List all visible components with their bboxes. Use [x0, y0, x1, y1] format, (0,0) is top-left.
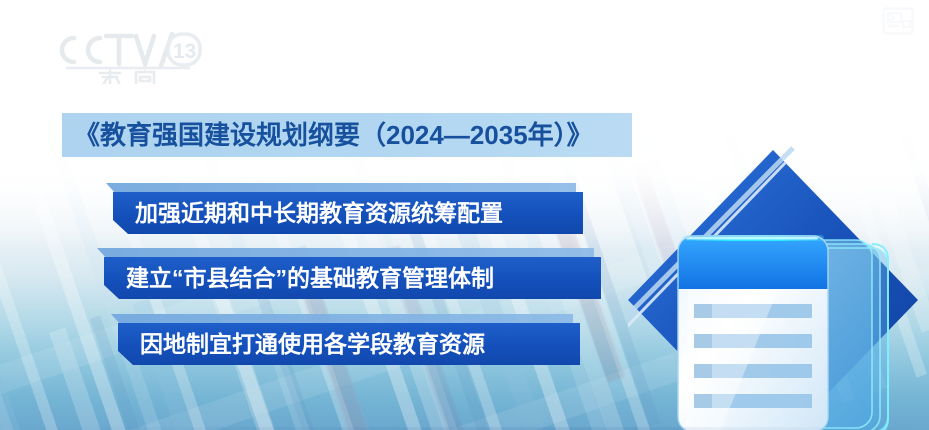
svg-text:13: 13 [173, 40, 196, 63]
bullet-bar-1: 加强近期和中长期教育资源统筹配置 [113, 192, 583, 234]
bullet-bar-2: 建立“市县结合”的基础教育管理体制 [104, 257, 601, 299]
cctv13-news-logo-icon: 13 [48, 22, 208, 84]
headline-band: 《教育强国建设规划纲要（2024—2035年）》 [62, 113, 632, 157]
page-title: 《教育强国建设规划纲要（2024—2035年）》 [62, 122, 593, 148]
media-player-watermark-icon [881, 6, 915, 36]
bullet-bar-3: 因地制宜打通使用各学段教育资源 [118, 323, 580, 365]
document-stack-diamond-graphic [628, 140, 928, 430]
broadcast-graphic-stage: 13 《教育强国建设规划纲要（2024—2035年）》 加强近期和中长期教育资源… [0, 0, 929, 430]
